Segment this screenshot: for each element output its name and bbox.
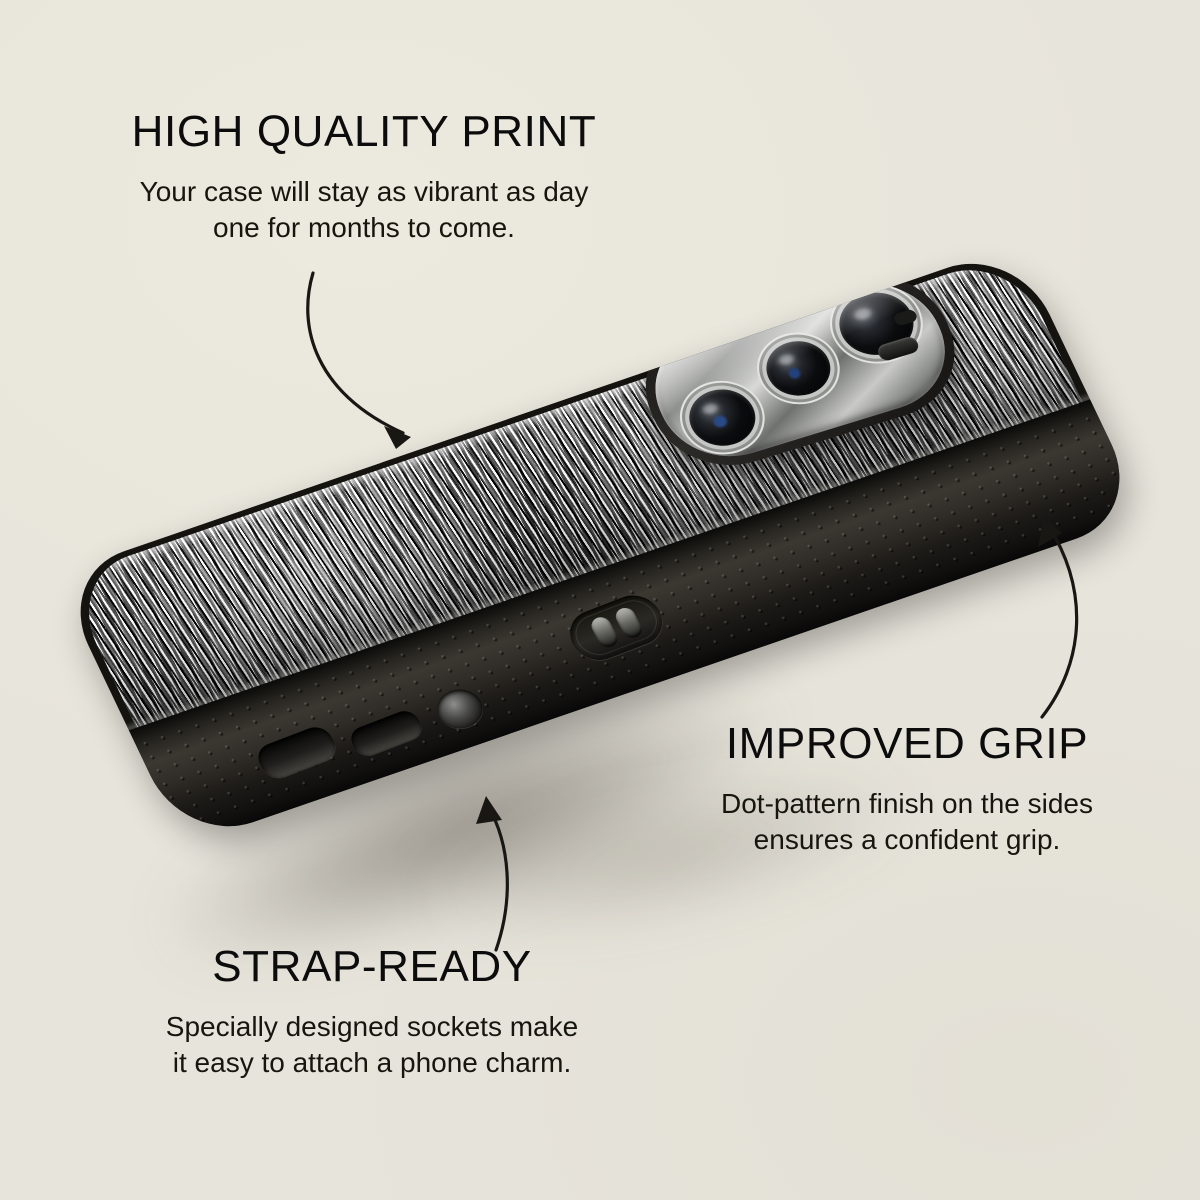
callout-body-line-2: one for months to come. <box>213 212 515 243</box>
callout-body-line-1: Your case will stay as vibrant as day <box>140 176 589 207</box>
callout-body-line-2: ensures a confident grip. <box>754 824 1061 855</box>
callout-strap-ready: STRAP-READY Specially designed sockets m… <box>102 945 642 1082</box>
callout-heading: IMPROVED GRIP <box>672 722 1142 766</box>
callout-improved-grip: IMPROVED GRIP Dot-pattern finish on the … <box>672 722 1142 859</box>
strap-socket-hole-2 <box>612 605 645 640</box>
arrow-to-print-icon <box>285 265 455 465</box>
camera-lens-1 <box>680 382 765 454</box>
callout-body-line-1: Specially designed sockets make <box>166 1011 578 1042</box>
callout-body: Specially designed sockets make it easy … <box>102 1009 642 1082</box>
strap-socket-hole-1 <box>588 615 621 650</box>
product-feature-graphic: BURGA <box>0 0 1200 1200</box>
callout-body-line-1: Dot-pattern finish on the sides <box>721 788 1093 819</box>
callout-body: Your case will stay as vibrant as day on… <box>64 174 664 247</box>
callout-heading: HIGH QUALITY PRINT <box>64 110 664 154</box>
callout-high-quality-print: HIGH QUALITY PRINT Your case will stay a… <box>64 110 664 247</box>
callout-body-line-2: it easy to attach a phone charm. <box>173 1047 571 1078</box>
camera-lens-2 <box>757 334 839 404</box>
callout-heading: STRAP-READY <box>102 945 642 989</box>
arrow-to-strap-icon <box>448 778 558 958</box>
callout-body: Dot-pattern finish on the sides ensures … <box>672 786 1142 859</box>
